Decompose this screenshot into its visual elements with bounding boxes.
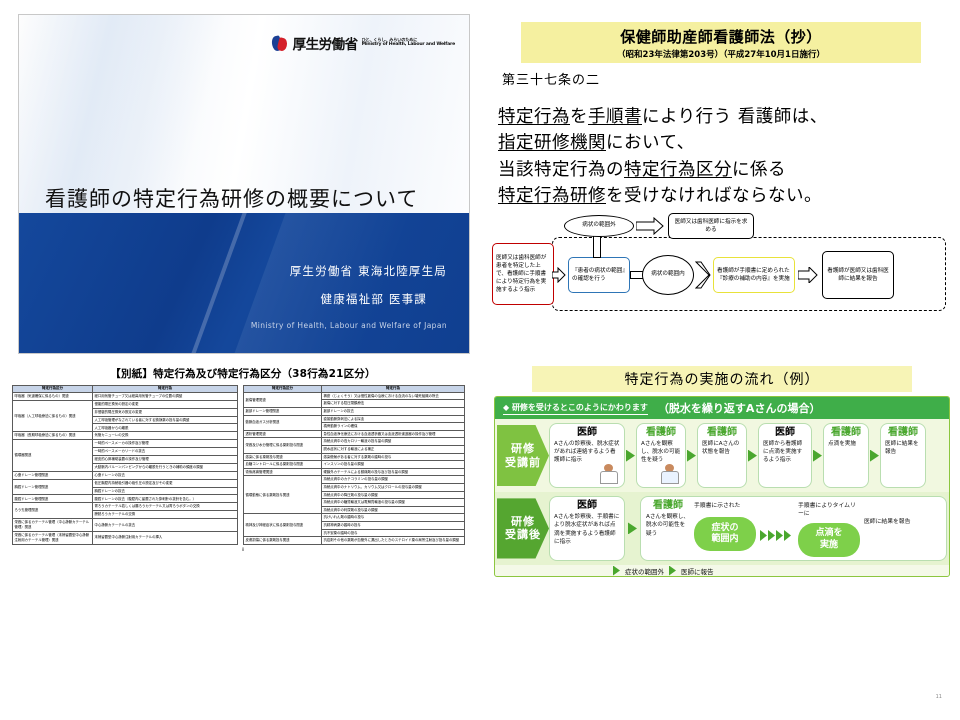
flow-label-after: 研修受講後: [497, 496, 549, 560]
footer-report-doctor: 医師に報告: [681, 566, 714, 576]
table-cell-act: 非侵襲的陽圧換気の設定の変更: [93, 408, 238, 416]
organization-line-2: 健康福祉部 医事課: [321, 291, 427, 307]
table-slide-page-number: 8: [8, 547, 478, 552]
mhlw-logo-name: 厚生労働省: [293, 33, 358, 53]
flow-banner-case: （脱水を繰り返すAさんの場合）: [658, 400, 821, 416]
before-step-role: 看護師: [641, 427, 681, 438]
organization-line-3-english: Ministry of Health, Labour and Welfare o…: [251, 321, 447, 330]
table-cell-act: 持続点滴中の利尿剤の投与量の調整: [322, 506, 465, 514]
footer-out-of-range: 症状の範囲外: [625, 566, 664, 576]
table-row: 呼吸器（気道確保に係るもの）関連経口用気管チューブ又は経鼻用気管チューブの位置の…: [13, 392, 238, 400]
table-row: 血糖コントロールに係る薬剤投与関連インスリンの投与量の調整: [244, 461, 465, 469]
mhlw-logo-tagline-en: Ministry of Health, Labour and Welfare: [362, 43, 455, 48]
footer-arrow-icon-1: [613, 566, 620, 576]
before-step-card: 看護師点滴を実施: [823, 423, 869, 488]
table-cell-act: 侵襲的陽圧換気の設定の変更: [93, 400, 238, 408]
table-row: ろう孔管理関連胃ろうカテーテル若しくは腸ろうカテーテル又は胃ろうボタンの交換: [13, 503, 238, 511]
table-cell-act: 持続点滴中の降圧剤の投与量の調整: [322, 491, 465, 499]
table-cell-act: 腹腔ドレーンの抜去（腹腔内に留置された穿刺針の抜針を含む。）: [93, 495, 238, 503]
slide-law-excerpt: 保健師助産師看護師法（抄） （昭和23年法律第203号）（平成27年10月1日施…: [490, 10, 952, 360]
page-title: 看護師の特定行為研修の概要について: [45, 183, 418, 213]
diagram-chevron-icon: [695, 261, 711, 289]
table-row: 腹腔ドレーン管理関連腹腔ドレーンの抜去（腹腔内に留置された穿刺針の抜針を含む。）: [13, 495, 238, 503]
title-blue-panel: 厚生労働省 東海北陸厚生局 健康福祉部 医事課 Ministry of Heal…: [19, 213, 469, 353]
flow-row-before-training: 研修受講前 医師Aさんの診察後、脱水症状があれば連絡するよう看護師に指示看護師A…: [495, 419, 949, 492]
table-cell-act: 大動脈内バルーンパンピングからの離脱を行うときの補助の頻度の調整: [93, 463, 238, 471]
table-row: 栄養に係るカテーテル管理（中心静脈カテーテル管理）関連中心静脈カテーテルの抜去: [13, 519, 238, 532]
before-step-role: 看護師: [885, 427, 921, 438]
table-row: 術後疼痛管理関連硬膜外カテーテルによる鎮痛剤の投与及び投与量の調整: [244, 468, 465, 476]
law-body-text: 特定行為を手順書により行う 看護師は、 指定研修機関において、 当該特定行為の特…: [498, 104, 952, 209]
before-step-body: Aさんの診察後、脱水症状があれば連絡するよう看護師に指示: [554, 440, 620, 464]
flow-footer-exception: 症状の範囲外 医師に報告: [495, 565, 949, 576]
diagram-arrow-2-icon: [636, 217, 664, 235]
table-cell-act: 経皮的心肺補助装置の操作及び管理: [93, 455, 238, 463]
law-line-3: 当該特定行為の特定行為区分に係る: [498, 157, 952, 183]
before-arrow-icon: [870, 450, 879, 462]
table-cell-category: 腹腔ドレーン管理関連: [13, 495, 93, 503]
before-arrow-icon: [626, 450, 635, 462]
before-step-role: 医師: [554, 427, 620, 438]
table-cell-category: 呼吸器（人工呼吸療法に係るもの）関連: [13, 400, 93, 432]
table-row: 栄養に係るカテーテル管理（末梢留置型中心静脈注射用カテーテル管理）関連末梢留置型…: [13, 531, 238, 544]
after-step-doctor-role: 医師: [554, 500, 620, 511]
before-step-body: 医師から看護師に点滴を実施するよう指示: [763, 440, 807, 464]
diagram-box-report-result: 看護師が医師又は歯科医師に結果を報告: [822, 251, 894, 299]
table-row: 創傷管理関連褥瘡（じょくそう）又は慢性創傷の治療における血流のない壊死組織の除去: [244, 392, 465, 400]
table-row: 栄養及び水分管理に係る薬剤投与関連持続点滴中の高カロリー輸液の投与量の調整: [244, 438, 465, 446]
after-step-doctor: 医師 Aさんを診察後、手順書により脱水症状があれば点滴を実施するよう看護師に指示: [549, 496, 625, 560]
table-row: 呼吸器（長期呼吸療法に係るもの）関連気管カニューレの交換: [13, 432, 238, 440]
flow-slide-title: 特定行為の実施の流れ（例）: [532, 366, 912, 392]
table-cell-act: 抗精神病薬の臨時の投与: [322, 521, 465, 529]
after-arrow-icon: [628, 522, 637, 534]
table-cell-act: 胸腔ドレーンの抜去: [93, 487, 238, 495]
table-cell-act: 抗けいれん剤の臨時の投与: [322, 514, 465, 522]
before-step-card: 看護師医師にAさんの状態を報告: [697, 423, 747, 488]
presentation-page: 厚生労働省 ひと、くらし、みらいのために Ministry of Health,…: [0, 0, 960, 720]
after-note-timely: 手順書によりタイムリーに: [798, 502, 860, 518]
table-cell-category: 栄養に係るカテーテル管理（中心静脈カテーテル管理）関連: [13, 519, 93, 532]
slide-practice-flow: 特定行為の実施の流れ（例） ◆ 研修を受けるとこのようにかわります （脱水を繰り…: [488, 366, 956, 718]
table-cell-act: 持続点滴中のナトリウム、カリウム又はクロールの投与量の調整: [322, 483, 465, 491]
table-cell-category: 循環動態に係る薬剤投与関連: [244, 476, 322, 514]
table-cell-category: 精神及び神経症状に係る薬剤投与関連: [244, 514, 322, 537]
table-cell-act: 経口用気管チューブ又は経鼻用気管チューブの位置の調整: [93, 392, 238, 400]
before-step-role: 医師: [763, 427, 807, 438]
table-row: 動脈血液ガス分析関連直接動脈穿刺法による採血: [244, 415, 465, 423]
table-cell-category: 透析管理関連: [244, 430, 322, 438]
table-cell-act: 橈骨動脈ラインの確保: [322, 423, 465, 431]
table-cell-act: 抗不安薬の臨時の投与: [322, 529, 465, 537]
table-cell-category: 動脈血液ガス分析関連: [244, 415, 322, 430]
diagram-box-confirm-range: 『患者の病状の範囲』の確認を行う: [568, 257, 630, 293]
table-cell-category: 創傷管理関連: [244, 392, 322, 407]
footer-arrow-icon-2: [669, 566, 676, 576]
after-pill-do-drip: 点滴を実施: [798, 523, 860, 557]
table-cell-act: 胃ろうカテーテル若しくは腸ろうカテーテル又は胃ろうボタンの交換: [93, 503, 238, 511]
after-progress-arrows-icon: [760, 516, 794, 541]
diagram-arrow-1-icon: [552, 267, 566, 283]
table-cell-category: 感染に係る薬剤投与関連: [244, 453, 322, 461]
table-cell-category: 呼吸器（長期呼吸療法に係るもの）関連: [13, 432, 93, 440]
table-row: 皮膚損傷に係る薬剤投与関連抗癌剤その他の薬剤が血管外に漏出したときのステロイド薬…: [244, 537, 465, 545]
law-line-4: 特定行為研修を受けなければならない。: [498, 183, 952, 209]
table-cell-act: 末梢留置型中心静脈注射用カテーテルの挿入: [93, 531, 238, 544]
table-row: 精神及び神経症状に係る薬剤投与関連抗けいれん剤の臨時の投与: [244, 514, 465, 522]
doctor-illustration-icon: [598, 464, 620, 484]
table-header-act-2: 特定行為: [322, 386, 465, 393]
table-row: 心嚢ドレーン管理関連心嚢ドレーンの抜去: [13, 471, 238, 479]
law-article-number: 第三十七条の二: [502, 69, 952, 88]
table-cell-category: 術後疼痛管理関連: [244, 468, 322, 476]
before-step-role: 看護師: [828, 427, 864, 438]
law-line-1: 特定行為を手順書により行う 看護師は、: [498, 104, 952, 130]
diagram-box-instruction: 医師又は歯科医師が患者を特定した上で、看護師に手順書により特定行為を実施するよう…: [492, 243, 554, 305]
diagram-ellipse-out-of-range: 病状の範囲外: [564, 215, 634, 237]
table-cell-act: 人工呼吸器からの離脱: [93, 424, 238, 432]
table-cell-category: 呼吸器（気道確保に係るもの）関連: [13, 392, 93, 400]
table-cell-category: 栄養及び水分管理に係る薬剤投与関連: [244, 438, 322, 453]
slide-specified-acts-table: 【別紙】特定行為及び特定行為区分（38行為21区分） 特定行為区分 特定行為 呼…: [8, 366, 478, 714]
flow-slide-page-number: 11: [936, 694, 942, 700]
table-cell-act: 低圧胸腔内持続吸引器の吸引圧の設定及びその変更: [93, 479, 238, 487]
before-arrow-icon: [748, 450, 757, 462]
table-header-act: 特定行為: [93, 386, 238, 393]
diagram-box-ask-doctor: 医師又は歯科医師に指示を求める: [668, 213, 754, 239]
table-cell-category: 循環器関連: [13, 440, 93, 472]
flow-banner: ◆ 研修を受けるとこのようにかわります （脱水を繰り返すAさんの場合）: [495, 397, 949, 419]
table-cell-act: 気管カニューレの交換: [93, 432, 238, 440]
after-step-nurse-role: 看護師: [646, 500, 690, 511]
law-process-diagram: 医師又は歯科医師が患者を特定した上で、看護師に手順書により特定行為を実施するよう…: [490, 215, 952, 323]
diagram-box-perform-action: 看護師が手順書に定められた『診療の補助の内容』を実施: [713, 257, 795, 293]
table-cell-act: 抗癌剤その他の薬剤が血管外に漏出したときのステロイド薬の局所注射及び投与量の調整: [322, 537, 465, 545]
table-cell-act: 直接動脈穿刺法による採血: [322, 415, 465, 423]
flow-row-after-training: 研修受講後 医師 Aさんを診察後、手順書により脱水症状があれば点滴を実施するよう…: [495, 492, 949, 564]
table-cell-category: 血糖コントロールに係る薬剤投与関連: [244, 461, 322, 469]
slide-title-page: 厚生労働省 ひと、くらし、みらいのために Ministry of Health,…: [18, 14, 470, 354]
table-row: 感染に係る薬剤投与関連感染徴候がある者に対する薬剤の臨時の投与: [244, 453, 465, 461]
table-cell-category: 栄養に係るカテーテル管理（末梢留置型中心静脈注射用カテーテル管理）関連: [13, 531, 93, 544]
specified-acts-table-right: 特定行為区分 特定行為 創傷管理関連褥瘡（じょくそう）又は慢性創傷の治療における…: [243, 385, 465, 545]
table-title: 【別紙】特定行為及び特定行為区分（38行為21区分）: [8, 366, 478, 381]
table-cell-category: 創部ドレーン管理関連: [244, 408, 322, 416]
after-pill-in-range: 症状の範囲内: [694, 517, 756, 551]
table-cell-act: 褥瘡（じょくそう）又は慢性創傷の治療における血流のない壊死組織の除去: [322, 392, 465, 400]
before-step-role: 看護師: [702, 427, 742, 438]
table-cell-category: 胸腔ドレーン管理関連: [13, 479, 93, 495]
before-arrow-icon: [687, 450, 696, 462]
table-row: 胸腔ドレーン管理関連低圧胸腔内持続吸引器の吸引圧の設定及びその変更: [13, 479, 238, 487]
table-row: 透析管理関連急性血液浄化療法における血液透析器又は血液透析濾過器の操作及び管理: [244, 430, 465, 438]
table-header-category-2: 特定行為区分: [244, 386, 322, 393]
diagram-ellipse-in-range: 病状の範囲内: [642, 255, 694, 295]
table-cell-act: 中心静脈カテーテルの抜去: [93, 519, 238, 532]
before-step-card: 医師Aさんの診察後、脱水症状があれば連絡するよう看護師に指示: [549, 423, 625, 488]
after-note-procedure: 手順書に示された: [694, 502, 756, 510]
before-step-body: 医師にAさんの状態を報告: [702, 440, 742, 456]
table-cell-act: 脱水症状に対する輸液による補正: [322, 446, 465, 454]
table-cell-act: 硬膜外カテーテルによる鎮痛剤の投与及び投与量の調整: [322, 468, 465, 476]
table-cell-act: 急性血液浄化療法における血液透析器又は血液透析濾過器の操作及び管理: [322, 430, 465, 438]
table-header-category: 特定行為区分: [13, 386, 93, 393]
after-step-doctor-body: Aさんを診察後、手順書により脱水症状があれば点滴を実施するよう看護師に指示: [554, 513, 620, 545]
table-cell-category: ろう孔管理関連: [13, 503, 93, 519]
law-line-2: 指定研修機関において、: [498, 130, 952, 156]
table-cell-act: 一時的ペースメーカリードの抜去: [93, 448, 238, 456]
table-cell-act: 持続点滴中の高カロリー輸液の投与量の調整: [322, 438, 465, 446]
before-step-body: 点滴を実施: [828, 440, 864, 448]
table-cell-act: 人工呼吸管理がなされている者に対する鎮静薬の投与量の調整: [93, 416, 238, 424]
flow-label-before: 研修受講前: [497, 423, 549, 488]
table-cell-act: 膀胱ろうカテーテルの交換: [93, 511, 238, 519]
table-columns-wrapper: 特定行為区分 特定行為 呼吸器（気道確保に係るもの）関連経口用気管チューブ又は経…: [8, 385, 478, 545]
nurse-illustration-icon: [659, 464, 681, 484]
table-cell-category: 皮膚損傷に係る薬剤投与関連: [244, 537, 322, 545]
table-cell-act: 創傷に対する陰圧閉鎖療法: [322, 400, 465, 408]
before-step-card: 医師医師から看護師に点滴を実施するよう指示: [758, 423, 812, 488]
table-cell-act: 心嚢ドレーンの抜去: [93, 471, 238, 479]
law-header-title: 保健師助産師看護師法（抄）: [521, 26, 921, 47]
before-arrow-icon: [813, 450, 822, 462]
law-header-band: 保健師助産師看護師法（抄） （昭和23年法律第203号）（平成27年10月1日施…: [521, 22, 921, 63]
mhlw-logo: 厚生労働省 ひと、くらし、みらいのために Ministry of Health,…: [272, 33, 455, 53]
flow-card: ◆ 研修を受けるとこのようにかわります （脱水を繰り返すAさんの場合） 研修受講…: [494, 396, 950, 577]
before-step-body: 医師に結果を報告: [885, 440, 921, 456]
table-row: 循環動態に係る薬剤投与関連持続点滴中のカテコラミンの投与量の調整: [244, 476, 465, 484]
before-step-body: Aさんを観察し、脱水の可能性を疑う: [641, 440, 681, 464]
table-cell-act: 感染徴候がある者に対する薬剤の臨時の投与: [322, 453, 465, 461]
table-cell-act: インスリンの投与量の調整: [322, 461, 465, 469]
table-row: 呼吸器（人工呼吸療法に係るもの）関連侵襲的陽圧換気の設定の変更: [13, 400, 238, 408]
after-step-nurse-body: Aさんを観察し、脱水の可能性を疑う: [646, 513, 690, 537]
table-cell-act: 一時的ペースメーカの操作及び管理: [93, 440, 238, 448]
before-step-card: 看護師Aさんを観察し、脱水の可能性を疑う: [636, 423, 686, 488]
table-cell-category: 心嚢ドレーン管理関連: [13, 471, 93, 479]
after-step-nurse-panel: 看護師 Aさんを観察し、脱水の可能性を疑う 手順書に示された 症状の範囲内: [640, 496, 947, 560]
table-cell-act: 持続点滴中の糖質輸液又は電解質輸液の投与量の調整: [322, 499, 465, 507]
table-cell-act: 持続点滴中のカテコラミンの投与量の調整: [322, 476, 465, 484]
table-row: 循環器関連一時的ペースメーカの操作及び管理: [13, 440, 238, 448]
flow-banner-lead: ◆ 研修を受けるとこのようにかわります: [503, 402, 648, 415]
diagram-arrow-3-icon: [798, 267, 818, 283]
mhlw-emblem-icon: [272, 35, 289, 52]
before-step-card: 看護師医師に結果を報告: [880, 423, 926, 488]
table-row: 創部ドレーン管理関連創部ドレーンの抜去: [244, 408, 465, 416]
after-report-result: 医師に結果を報告: [864, 518, 941, 526]
law-header-subtitle: （昭和23年法律第203号）（平成27年10月1日施行）: [521, 48, 921, 60]
specified-acts-table-left: 特定行為区分 特定行為 呼吸器（気道確保に係るもの）関連経口用気管チューブ又は経…: [12, 385, 238, 545]
organization-line-1: 厚生労働省 東海北陸厚生局: [290, 263, 447, 279]
table-cell-act: 創部ドレーンの抜去: [322, 408, 465, 416]
